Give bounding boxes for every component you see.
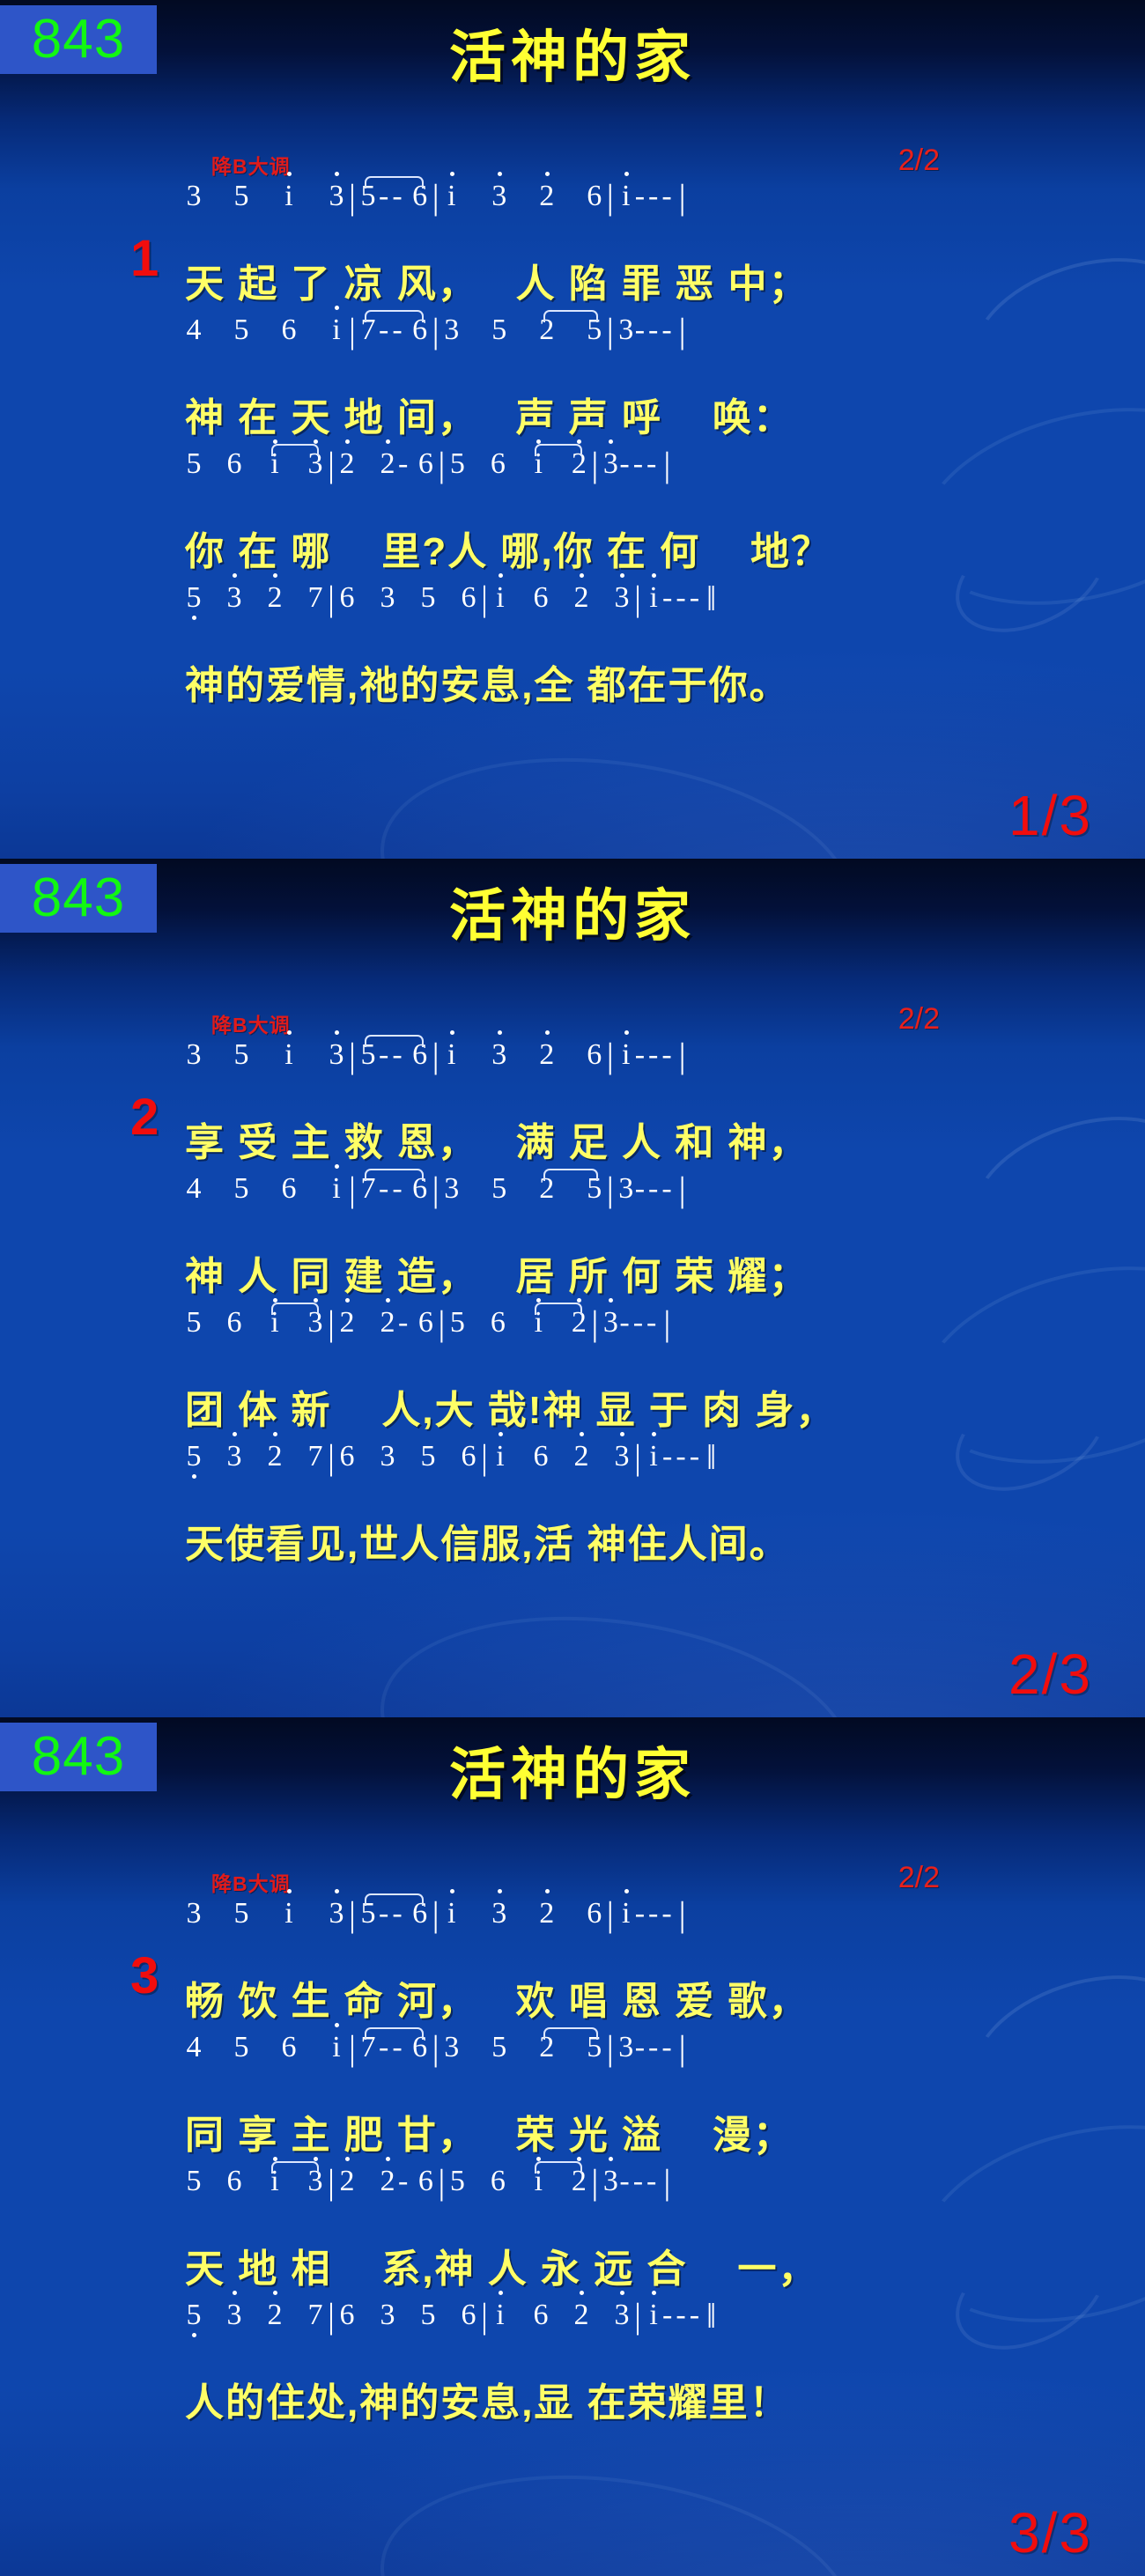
note: 2: [572, 1440, 590, 1473]
measure: i326: [443, 1897, 603, 1930]
bar-line: |: [603, 1174, 617, 1206]
hymn-slide-deck: 843 活神的家 降B大调 2/2 1 35i3|5--6|i326|i---|…: [0, 0, 1145, 2576]
lyrics-row-2: 神 在 天 地 间， 声 声 呼 唤：: [0, 386, 1145, 440]
note: 5: [185, 1440, 203, 1473]
bar-line: |: [631, 2300, 645, 2332]
bar-line: |: [434, 449, 448, 481]
note: 2: [572, 2299, 590, 2332]
note: 3: [617, 314, 635, 347]
notation-row-4: 5327|6356|i623|i---‖: [185, 2292, 1048, 2332]
bar-line: |: [324, 583, 338, 615]
lyrics-row-3: 你 在 哪 里?人 哪,你 在 何 地？: [0, 520, 1145, 574]
note: 5: [491, 314, 508, 347]
bar-line: |: [631, 583, 645, 615]
measure: 35i3: [185, 180, 345, 213]
final-double-bar-line: ‖: [703, 583, 720, 615]
lyrics-row-3: 团 体 新 人,大 哉!神 显 于 肉 身，: [0, 1378, 1145, 1433]
hold-dashes: -: [398, 1306, 411, 1340]
note: 3: [491, 1038, 508, 1072]
note: 5: [233, 180, 250, 213]
hymn-title: 活神的家: [0, 871, 1145, 952]
note: 3: [443, 314, 461, 347]
staff-line: 35i3|5--6|i326|i---|: [0, 173, 1145, 252]
note: 3: [613, 581, 631, 615]
bar-line: |: [429, 1174, 443, 1206]
measure: 6356: [338, 1440, 477, 1473]
measure: 456i: [185, 1172, 345, 1206]
note: 6: [460, 2299, 477, 2332]
measure: i623: [491, 1440, 631, 1473]
bar-line: |: [324, 449, 338, 481]
staff-line: 5327|6356|i623|i---‖: [0, 1433, 1145, 1512]
bar-line: |: [603, 2033, 617, 2064]
note: 2: [538, 180, 556, 213]
notation-row-2: 456i|7--6|3525|3---|: [185, 1165, 1048, 1206]
measure: i---: [617, 1038, 676, 1072]
bar-line: |: [345, 181, 359, 213]
measure: 5327: [185, 581, 324, 615]
note: 3: [379, 581, 396, 615]
measure: 3---: [617, 1172, 676, 1206]
note: 3: [613, 2299, 631, 2332]
measure: i623: [491, 2299, 631, 2332]
note: i: [617, 180, 635, 213]
measure: 456i: [185, 314, 345, 347]
note: 3: [379, 1440, 396, 1473]
measure: 3---: [617, 2031, 676, 2064]
bar-line: |: [587, 449, 602, 481]
note: i: [328, 1172, 345, 1206]
bar-line: |: [345, 1174, 359, 1206]
hymn-slide-3: 843 活神的家 降B大调 2/2 3 35i3|5--6|i326|i---|…: [0, 1717, 1145, 2576]
hold-dashes: ---: [635, 2031, 676, 2064]
note: i: [491, 2299, 509, 2332]
bar-line: |: [324, 2300, 338, 2332]
measure: 56i3: [185, 447, 324, 481]
final-double-bar-line: ‖: [703, 1442, 720, 1473]
bar-line: |: [676, 2033, 690, 2064]
measure: 56i3: [185, 2165, 324, 2198]
hold-dashes: -: [398, 2165, 411, 2198]
measure: 35i3: [185, 1038, 345, 1072]
note: 6: [338, 581, 356, 615]
note: 6: [586, 180, 603, 213]
note: 2: [572, 581, 590, 615]
bar-line: |: [660, 2166, 674, 2198]
note: 6: [280, 1172, 298, 1206]
measure: 456i: [185, 2031, 345, 2064]
tie-slur: [535, 1303, 582, 1315]
music-body: 35i3|5--6|i326|i---| 天 起 了 凉 风， 人 陷 罪 恶 …: [0, 173, 1145, 708]
note: i: [617, 1897, 635, 1930]
music-body: 35i3|5--6|i326|i---| 享 受 主 救 恩， 满 足 人 和 …: [0, 1031, 1145, 1567]
note: 6: [532, 2299, 550, 2332]
measure: 3---: [602, 2165, 660, 2198]
measure: 56i2: [448, 447, 587, 481]
measure: i---: [645, 581, 703, 615]
staff-line: 456i|7--6|3525|3---|: [0, 2024, 1145, 2103]
measure: 3---: [602, 447, 660, 481]
measure: i---: [617, 1897, 676, 1930]
note: 5: [185, 447, 203, 481]
bar-line: |: [676, 181, 690, 213]
measure: i326: [443, 1038, 603, 1072]
lyrics-row-1: 享 受 主 救 恩， 满 足 人 和 神，: [0, 1111, 1145, 1165]
note: 5: [491, 2031, 508, 2064]
hymn-slide-2: 843 活神的家 降B大调 2/2 2 35i3|5--6|i326|i---|…: [0, 859, 1145, 1717]
tie-slur: [535, 2161, 582, 2174]
note: i: [443, 1038, 461, 1072]
bar-line: |: [345, 1040, 359, 1072]
note: 6: [460, 1440, 477, 1473]
note: 4: [185, 2031, 203, 2064]
note: 3: [443, 1172, 461, 1206]
note: 2: [538, 1038, 556, 1072]
hold-dashes: ---: [635, 314, 676, 347]
hold-dashes: ---: [662, 2299, 703, 2332]
notation-row-2: 456i|7--6|3525|3---|: [185, 2024, 1048, 2064]
measure: 5327: [185, 2299, 324, 2332]
hold-dashes: ---: [635, 180, 676, 213]
note: 3: [225, 2299, 243, 2332]
staff-line: 56i3|22-6|56i2|3---|: [0, 1299, 1145, 1378]
lyrics-row-2: 同 享 主 肥 甘， 荣 光 溢 漫；: [0, 2103, 1145, 2158]
note: i: [280, 180, 298, 213]
note: 6: [489, 447, 506, 481]
measure: 5327: [185, 1440, 324, 1473]
decorative-swirl-icon: [366, 1589, 868, 1717]
notation-row-3: 56i3|22-6|56i2|3---|: [185, 2158, 1048, 2198]
lyrics-row-1: 天 起 了 凉 风， 人 陷 罪 恶 中；: [0, 252, 1145, 306]
measure: 22-6: [338, 1306, 434, 1340]
lyrics-row-3: 天 地 相 系,神 人 永 远 合 一，: [0, 2237, 1145, 2292]
tie-slur: [365, 176, 424, 188]
hold-dashes: ---: [662, 581, 703, 615]
tie-slur: [271, 1303, 319, 1315]
bar-line: |: [660, 449, 674, 481]
note: 2: [379, 2165, 396, 2198]
note: 5: [233, 1038, 250, 1072]
staff-line: 456i|7--6|3525|3---|: [0, 306, 1145, 386]
tie-slur: [365, 1169, 424, 1181]
hold-dashes: ---: [619, 1306, 660, 1340]
measure: i---: [645, 1440, 703, 1473]
tie-slur: [365, 1035, 424, 1047]
music-body: 35i3|5--6|i326|i---| 畅 饮 生 命 河， 欢 唱 恩 爱 …: [0, 1890, 1145, 2425]
note: 5: [419, 1440, 437, 1473]
decorative-swirl-icon: [366, 2447, 868, 2576]
tie-slur: [271, 2161, 319, 2174]
bar-line: |: [429, 181, 443, 213]
lyrics-row-4: 人的住处,神的安息,显 在荣耀里！: [0, 2371, 1145, 2425]
note: 2: [379, 1306, 396, 1340]
note: 6: [417, 447, 434, 481]
note: 6: [489, 2165, 506, 2198]
measure: 3525: [443, 314, 603, 347]
note: 3: [602, 2165, 619, 2198]
note: 5: [185, 2299, 203, 2332]
note: 7: [307, 1440, 324, 1473]
note: 5: [419, 581, 437, 615]
note: 3: [617, 2031, 635, 2064]
tie-slur: [271, 444, 319, 456]
bar-line: |: [603, 315, 617, 347]
note: 6: [225, 447, 243, 481]
note: 2: [538, 1897, 556, 1930]
bar-line: |: [477, 1442, 491, 1473]
note: 5: [448, 2165, 466, 2198]
staff-line: 56i3|22-6|56i2|3---|: [0, 440, 1145, 520]
measure: 5--6: [359, 1897, 429, 1930]
note: 3: [328, 1038, 345, 1072]
note: 6: [280, 2031, 298, 2064]
notation-row-1: 35i3|5--6|i326|i---|: [185, 1031, 1048, 1072]
note: 5: [491, 1172, 508, 1206]
note: 2: [379, 447, 396, 481]
bar-line: |: [324, 1308, 338, 1340]
bar-line: |: [587, 1308, 602, 1340]
note: 3: [443, 2031, 461, 2064]
hold-dashes: ---: [619, 447, 660, 481]
note: 2: [266, 1440, 284, 1473]
note: 6: [280, 314, 298, 347]
measure: 5--6: [359, 1038, 429, 1072]
note: i: [280, 1038, 298, 1072]
note: 6: [532, 1440, 550, 1473]
bar-line: |: [429, 2033, 443, 2064]
notation-row-1: 35i3|5--6|i326|i---|: [185, 173, 1048, 213]
note: i: [491, 1440, 509, 1473]
note: 3: [491, 1897, 508, 1930]
decorative-swirl-icon: [366, 730, 868, 859]
bar-line: |: [603, 181, 617, 213]
note: 3: [491, 180, 508, 213]
measure: i---: [617, 180, 676, 213]
note: 3: [328, 180, 345, 213]
notation-row-4: 5327|6356|i623|i---‖: [185, 574, 1048, 615]
bar-line: |: [676, 315, 690, 347]
hold-dashes: ---: [662, 1440, 703, 1473]
note: i: [645, 2299, 662, 2332]
note: i: [328, 2031, 345, 2064]
measure: 56i2: [448, 2165, 587, 2198]
note: i: [328, 314, 345, 347]
staff-line: 456i|7--6|3525|3---|: [0, 1165, 1145, 1244]
note: 5: [419, 2299, 437, 2332]
measure: 7--6: [359, 2031, 429, 2064]
note: 5: [448, 447, 466, 481]
staff-line: 5327|6356|i623|i---‖: [0, 2292, 1145, 2371]
bar-line: |: [345, 2033, 359, 2064]
staff-line: 35i3|5--6|i326|i---|: [0, 1890, 1145, 1969]
lyrics-row-4: 天使看见,世人信服,活 神住人间。: [0, 1512, 1145, 1567]
note: 2: [266, 581, 284, 615]
tie-slur: [365, 1893, 424, 1906]
note: 3: [225, 1440, 243, 1473]
hold-dashes: ---: [635, 1038, 676, 1072]
tie-slur: [543, 1169, 598, 1181]
tie-slur: [365, 310, 424, 322]
note: 3: [379, 2299, 396, 2332]
tie-slur: [365, 2027, 424, 2040]
bar-line: |: [324, 1442, 338, 1473]
bar-line: |: [477, 583, 491, 615]
bar-line: |: [429, 315, 443, 347]
note: i: [443, 180, 461, 213]
note: 5: [185, 581, 203, 615]
note: 6: [417, 1306, 434, 1340]
hymn-title: 活神的家: [0, 12, 1145, 93]
hymn-title: 活神的家: [0, 1730, 1145, 1811]
note: i: [280, 1897, 298, 1930]
staff-line: 56i3|22-6|56i2|3---|: [0, 2158, 1145, 2237]
note: 3: [617, 1172, 635, 1206]
measure: 6356: [338, 581, 477, 615]
measure: 5--6: [359, 180, 429, 213]
note: 4: [185, 1172, 203, 1206]
hold-dashes: ---: [635, 1897, 676, 1930]
measure: i---: [645, 2299, 703, 2332]
note: 5: [233, 1172, 250, 1206]
note: 2: [338, 447, 356, 481]
measure: 22-6: [338, 447, 434, 481]
staff-line: 5327|6356|i623|i---‖: [0, 574, 1145, 653]
note: 3: [185, 1897, 203, 1930]
bar-line: |: [345, 1899, 359, 1930]
bar-line: |: [660, 1308, 674, 1340]
note: 3: [185, 180, 203, 213]
staff-line: 35i3|5--6|i326|i---|: [0, 1031, 1145, 1111]
note: 3: [613, 1440, 631, 1473]
measure: 3---: [602, 1306, 660, 1340]
page-indicator: 1/3: [1008, 783, 1092, 848]
lyrics-row-1: 畅 饮 生 命 河， 欢 唱 恩 爱 歌，: [0, 1969, 1145, 2024]
tie-slur: [543, 2027, 598, 2040]
note: 6: [417, 2165, 434, 2198]
note: 3: [225, 581, 243, 615]
note: 6: [338, 1440, 356, 1473]
bar-line: |: [676, 1174, 690, 1206]
measure: 56i2: [448, 1306, 587, 1340]
bar-line: |: [434, 1308, 448, 1340]
notation-row-1: 35i3|5--6|i326|i---|: [185, 1890, 1048, 1930]
measure: 7--6: [359, 314, 429, 347]
page-indicator: 2/3: [1008, 1642, 1092, 1707]
note: 3: [328, 1897, 345, 1930]
note: 5: [233, 314, 250, 347]
note: 5: [185, 1306, 203, 1340]
note: 3: [185, 1038, 203, 1072]
notation-row-3: 56i3|22-6|56i2|3---|: [185, 1299, 1048, 1340]
note: 6: [586, 1897, 603, 1930]
bar-line: |: [324, 2166, 338, 2198]
bar-line: |: [345, 315, 359, 347]
bar-line: |: [676, 1040, 690, 1072]
bar-line: |: [631, 1442, 645, 1473]
measure: 7--6: [359, 1172, 429, 1206]
hymn-slide-1: 843 活神的家 降B大调 2/2 1 35i3|5--6|i326|i---|…: [0, 0, 1145, 859]
note: 6: [489, 1306, 506, 1340]
note: 5: [185, 2165, 203, 2198]
note: 4: [185, 314, 203, 347]
bar-line: |: [603, 1040, 617, 1072]
bar-line: |: [587, 2166, 602, 2198]
measure: 3---: [617, 314, 676, 347]
measure: 22-6: [338, 2165, 434, 2198]
measure: i326: [443, 180, 603, 213]
note: 2: [338, 2165, 356, 2198]
note: 7: [307, 2299, 324, 2332]
note: 5: [448, 1306, 466, 1340]
bar-line: |: [477, 2300, 491, 2332]
bar-line: |: [676, 1899, 690, 1930]
tie-slur: [535, 444, 582, 456]
measure: i623: [491, 581, 631, 615]
note: 6: [460, 581, 477, 615]
notation-row-3: 56i3|22-6|56i2|3---|: [185, 440, 1048, 481]
bar-line: |: [429, 1899, 443, 1930]
note: 2: [266, 2299, 284, 2332]
lyrics-row-2: 神 人 同 建 造， 居 所 何 荣 耀；: [0, 1244, 1145, 1299]
note: 2: [338, 1306, 356, 1340]
bar-line: |: [429, 1040, 443, 1072]
hold-dashes: ---: [619, 2165, 660, 2198]
note: 5: [233, 2031, 250, 2064]
note: 3: [602, 1306, 619, 1340]
bar-line: |: [603, 1899, 617, 1930]
note: i: [645, 581, 662, 615]
bar-line: |: [434, 2166, 448, 2198]
measure: 3525: [443, 2031, 603, 2064]
note: 6: [225, 2165, 243, 2198]
hold-dashes: ---: [635, 1172, 676, 1206]
lyrics-row-4: 神的爱情,祂的安息,全 都在于你。: [0, 653, 1145, 708]
final-double-bar-line: ‖: [703, 2300, 720, 2332]
measure: 56i3: [185, 1306, 324, 1340]
measure: 35i3: [185, 1897, 345, 1930]
note: 5: [233, 1897, 250, 1930]
note: 7: [307, 581, 324, 615]
hold-dashes: -: [398, 447, 411, 481]
note: 6: [532, 581, 550, 615]
note: i: [443, 1897, 461, 1930]
note: 6: [338, 2299, 356, 2332]
note: i: [491, 581, 509, 615]
note: 3: [602, 447, 619, 481]
note: 6: [586, 1038, 603, 1072]
tie-slur: [543, 310, 598, 322]
page-indicator: 3/3: [1008, 2500, 1092, 2565]
note: i: [617, 1038, 635, 1072]
measure: 6356: [338, 2299, 477, 2332]
note: 6: [225, 1306, 243, 1340]
note: i: [645, 1440, 662, 1473]
notation-row-4: 5327|6356|i623|i---‖: [185, 1433, 1048, 1473]
measure: 3525: [443, 1172, 603, 1206]
notation-row-2: 456i|7--6|3525|3---|: [185, 306, 1048, 347]
